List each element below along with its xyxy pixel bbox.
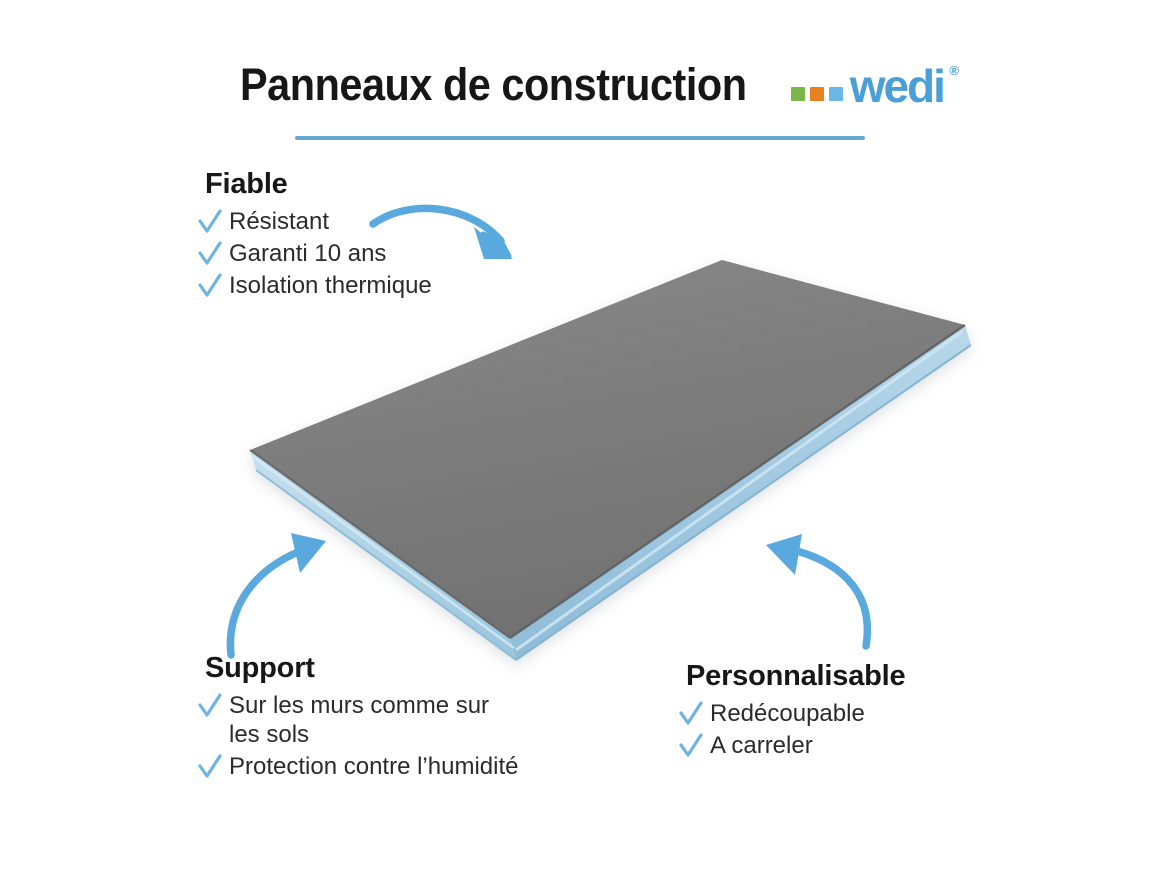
page-title-row: Panneaux de construction wedi® (0, 62, 1162, 107)
list-item-label: Redécoupable (710, 699, 865, 728)
title-divider (295, 136, 865, 140)
wedi-logo: wedi® (791, 67, 944, 106)
logo-dot-orange (810, 87, 824, 101)
list-item: Isolation thermique (197, 271, 432, 301)
check-icon (197, 207, 223, 237)
illustration-panel-and-arrows (0, 0, 1162, 871)
list-item-label: Garanti 10 ans (229, 239, 386, 268)
feature-block-support: Support Sur les murs comme sur les sols … (197, 652, 518, 784)
check-icon (197, 239, 223, 269)
feature-block-fiable-title: Fiable (205, 168, 432, 201)
check-icon (678, 731, 704, 761)
check-icon (197, 691, 223, 721)
list-item: A carreler (678, 731, 905, 761)
check-icon (197, 271, 223, 301)
feature-block-personnalisable-title: Personnalisable (686, 660, 905, 693)
list-item: Garanti 10 ans (197, 239, 432, 269)
list-item-label: Isolation thermique (229, 271, 432, 300)
list-item: Résistant (197, 207, 432, 237)
arrow-to-panel-left (230, 533, 326, 655)
list-item-label: Sur les murs comme sur les sols (229, 691, 489, 750)
page-title: Panneaux de construction (240, 62, 747, 107)
wedi-logo-text: wedi (850, 60, 944, 112)
infographic-canvas: Panneaux de construction wedi® Fiable Ré… (0, 0, 1162, 871)
wedi-logo-wordmark: wedi® (850, 67, 944, 106)
list-item-label: Protection contre l’humidité (229, 752, 518, 781)
feature-block-fiable: Fiable Résistant Garanti 10 ans Isolatio… (197, 168, 432, 303)
wedi-logo-dots-icon (791, 87, 843, 101)
arrow-to-panel-right (766, 534, 867, 646)
list-item-label: A carreler (710, 731, 813, 760)
logo-dot-green (791, 87, 805, 101)
feature-block-personnalisable: Personnalisable Redécoupable A carreler (678, 660, 905, 763)
list-item: Sur les murs comme sur les sols (197, 691, 518, 750)
check-icon (678, 699, 704, 729)
list-item-label: Résistant (229, 207, 329, 236)
registered-trademark-icon: ® (949, 65, 957, 76)
feature-block-support-title: Support (205, 652, 518, 685)
check-icon (197, 752, 223, 782)
list-item: Redécoupable (678, 699, 905, 729)
list-item: Protection contre l’humidité (197, 752, 518, 782)
logo-dot-blue (829, 87, 843, 101)
